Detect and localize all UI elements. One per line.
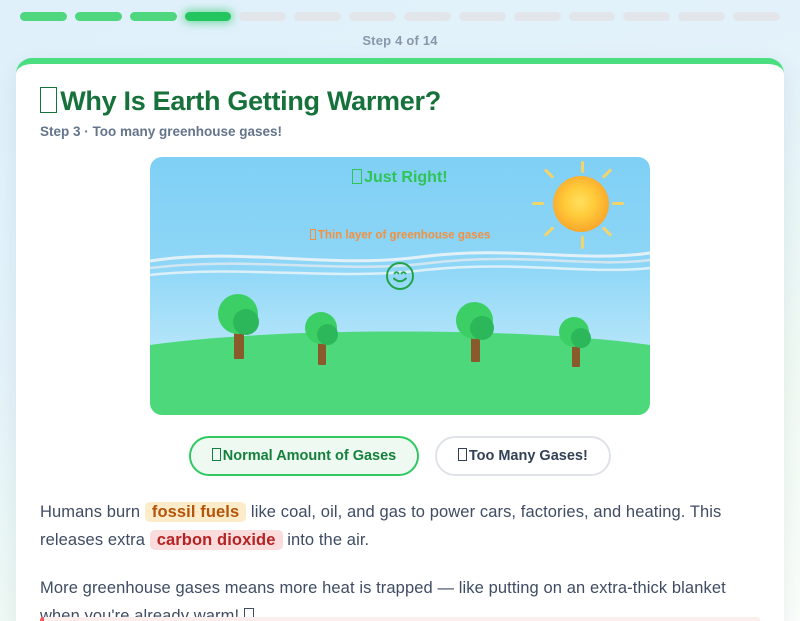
p1-text-a: Humans burn xyxy=(40,503,140,521)
lesson-card: Why Is Earth Getting Warmer? Step 3 · To… xyxy=(16,58,784,621)
highlight-fossil-fuels: fossil fuels xyxy=(145,502,246,522)
progress-segment-2 xyxy=(75,12,122,21)
sun-icon xyxy=(553,176,609,232)
page-title-text: Why Is Earth Getting Warmer? xyxy=(60,86,441,116)
p2-text: More greenhouse gases means more heat is… xyxy=(40,579,726,621)
progress-segment-9 xyxy=(459,12,506,21)
progress-segment-10 xyxy=(514,12,561,21)
tree xyxy=(210,291,268,359)
toggle-normal-label: Normal Amount of Gases xyxy=(223,448,397,464)
progress-segment-12 xyxy=(623,12,670,21)
gas-label-emoji-icon xyxy=(310,229,317,240)
progress-segment-4 xyxy=(185,12,232,21)
illustration-title-text: Just Right! xyxy=(364,169,448,186)
progress-bar xyxy=(20,12,780,21)
tree xyxy=(555,317,597,367)
progress-segment-8 xyxy=(404,12,451,21)
illustration-panel: Just Right! Thin layer of greenhouse gas… xyxy=(150,157,650,415)
highlight-carbon-dioxide: carbon dioxide xyxy=(150,530,283,550)
gas-amount-toggle-group: Normal Amount of Gases Too Many Gases! xyxy=(40,436,760,476)
p1-text-c: into the air. xyxy=(287,531,369,549)
page-subtitle: Step 3 · Too many greenhouse gases! xyxy=(40,124,760,139)
page-title: Why Is Earth Getting Warmer? xyxy=(40,86,760,117)
toggle-normal-emoji-icon xyxy=(212,448,221,461)
toggle-too-many-emoji-icon xyxy=(458,448,467,461)
sun-ray xyxy=(544,168,555,179)
tree xyxy=(450,300,502,362)
illustration-title-emoji-icon xyxy=(352,169,362,184)
smiling-face-icon xyxy=(385,261,415,291)
tree xyxy=(300,311,345,365)
tree-foliage-shade xyxy=(571,328,591,348)
progress-segment-14 xyxy=(733,12,780,21)
progress-segment-1 xyxy=(20,12,67,21)
step-counter: Step 4 of 14 xyxy=(20,33,780,48)
sun-ray xyxy=(532,202,544,205)
sun-ray xyxy=(612,202,624,205)
toggle-too-many-label: Too Many Gases! xyxy=(469,448,588,464)
warning-callout xyxy=(40,617,760,621)
tree-foliage-shade xyxy=(233,309,259,335)
progress-segment-3 xyxy=(130,12,177,21)
toggle-normal-amount-of-gases[interactable]: Normal Amount of Gases xyxy=(189,436,419,476)
progress-header: Step 4 of 14 xyxy=(0,0,800,48)
tree-foliage-shade xyxy=(317,324,338,345)
progress-segment-11 xyxy=(569,12,616,21)
progress-segment-6 xyxy=(294,12,341,21)
progress-segment-13 xyxy=(678,12,725,21)
p1-text-b: like coal, oil, and gas to power cars, f… xyxy=(40,503,721,549)
tree-foliage-shade xyxy=(470,316,494,340)
sun-ray xyxy=(602,168,613,179)
progress-segment-7 xyxy=(349,12,396,21)
paragraph-fossil-fuels: Humans burn fossil fuels like coal, oil,… xyxy=(40,498,760,555)
title-emoji-icon xyxy=(40,87,57,113)
progress-segment-5 xyxy=(239,12,286,21)
toggle-too-many-gases[interactable]: Too Many Gases! xyxy=(435,436,611,476)
paragraph-greenhouse-effect: More greenhouse gases means more heat is… xyxy=(40,574,760,621)
sun-ray xyxy=(581,161,584,173)
